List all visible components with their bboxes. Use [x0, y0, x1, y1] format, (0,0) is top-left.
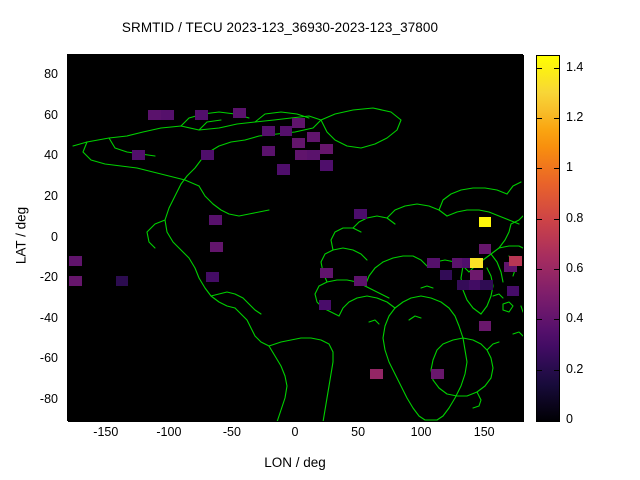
heatmap-cell [470, 258, 483, 268]
colorbar-tick-mark [554, 269, 559, 270]
colorbar-tick-mark [554, 68, 559, 69]
heatmap-cell [262, 146, 275, 156]
colorbar-tick-mark [537, 420, 542, 421]
colorbar-tick-mark [537, 319, 542, 320]
x-tick-label: 0 [265, 425, 325, 439]
colorbar-tick-mark [554, 168, 559, 169]
heatmap-cell [320, 160, 333, 170]
heatmap-cell [354, 276, 367, 286]
heatmap-cell [370, 369, 383, 379]
colorbar-tick-label: 1 [566, 160, 573, 174]
heatmap-cell [292, 118, 305, 128]
colorbar-tick-mark [537, 168, 542, 169]
colorbar-tick-mark [554, 118, 559, 119]
heatmap-cell [507, 286, 520, 296]
heatmap-cells-layer [69, 56, 523, 421]
colorbar[interactable] [536, 55, 560, 422]
colorbar-tick-label: 0 [566, 412, 573, 426]
y-tick-label: 80 [8, 67, 58, 81]
heatmap-cell [480, 280, 493, 290]
colorbar-tick-mark [537, 269, 542, 270]
heatmap-cell [319, 300, 332, 310]
heatmap-cell [307, 150, 320, 160]
x-tick-label: 100 [391, 425, 451, 439]
x-tick-label: -50 [202, 425, 262, 439]
heatmap-cell [320, 144, 333, 154]
heatmap-cell [209, 215, 222, 225]
heatmap-cell [479, 217, 492, 227]
x-tick-label: -100 [139, 425, 199, 439]
map-plot-area[interactable] [68, 55, 524, 422]
y-axis-label: LAT / deg [14, 146, 29, 326]
colorbar-tick-label: 1.4 [566, 60, 583, 74]
y-tick-label: -80 [8, 392, 58, 406]
heatmap-cell [295, 150, 308, 160]
heatmap-cell [431, 369, 444, 379]
colorbar-gradient [537, 56, 559, 421]
heatmap-cell [206, 272, 219, 282]
heatmap-cell [201, 150, 214, 160]
heatmap-cell [479, 244, 492, 254]
colorbar-tick-mark [537, 68, 542, 69]
heatmap-cell [262, 126, 275, 136]
x-tick-label: 150 [454, 425, 514, 439]
colorbar-tick-mark [537, 118, 542, 119]
page-title: SRMTID / TECU 2023-123_36930-2023-123_37… [0, 20, 560, 35]
heatmap-cell [320, 268, 333, 278]
heatmap-cell [292, 138, 305, 148]
heatmap-cell [233, 108, 246, 118]
colorbar-tick-mark [554, 420, 559, 421]
colorbar-tick-mark [554, 370, 559, 371]
heatmap-cell [307, 132, 320, 142]
colorbar-tick-mark [537, 219, 542, 220]
heatmap-cell [132, 150, 145, 160]
heatmap-cell [116, 276, 129, 286]
heatmap-cell [195, 110, 208, 120]
plot-figure: SRMTID / TECU 2023-123_36930-2023-123_37… [0, 0, 640, 480]
x-axis-label: LON / deg [68, 455, 522, 470]
heatmap-cell [69, 276, 82, 286]
y-tick-label: -60 [8, 351, 58, 365]
colorbar-tick-mark [537, 370, 542, 371]
heatmap-cell [509, 256, 522, 266]
colorbar-tick-mark [554, 319, 559, 320]
x-tick-label: 50 [328, 425, 388, 439]
colorbar-tick-label: 1.2 [566, 110, 583, 124]
colorbar-tick-mark [554, 219, 559, 220]
x-tick-label: -150 [76, 425, 136, 439]
colorbar-tick-label: 0.2 [566, 362, 583, 376]
axis-line-top [67, 54, 523, 55]
heatmap-cell [277, 164, 290, 174]
colorbar-tick-label: 0.4 [566, 311, 583, 325]
heatmap-cell [479, 321, 492, 331]
heatmap-cell [161, 110, 174, 120]
heatmap-cell [427, 258, 440, 268]
colorbar-tick-label: 0.6 [566, 261, 583, 275]
heatmap-cell [280, 126, 293, 136]
y-tick-label: 60 [8, 108, 58, 122]
heatmap-cell [440, 270, 453, 280]
heatmap-cell [210, 242, 223, 252]
colorbar-tick-label: 0.8 [566, 211, 583, 225]
heatmap-cell [354, 209, 367, 219]
heatmap-cell [69, 256, 82, 266]
heatmap-cell [470, 270, 483, 280]
heatmap-cell [148, 110, 161, 120]
